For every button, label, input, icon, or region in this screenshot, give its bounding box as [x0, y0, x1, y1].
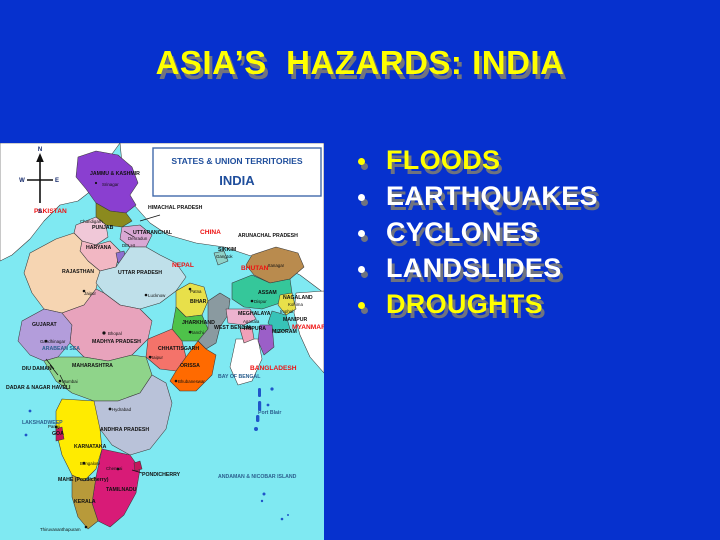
state-label: ORISSA: [180, 363, 200, 369]
capital-label: Srinagar: [102, 182, 119, 187]
compass-south-label: S: [38, 209, 42, 215]
capital-label: Hydrabad: [112, 407, 132, 412]
india-states-map: .st{stroke:#3a3a3a;stroke-width:0.55;str…: [0, 143, 324, 540]
state-label: GUJARAT: [32, 322, 58, 328]
state-label: PONDICHERRY: [142, 472, 181, 478]
state-label: CHHATTISGARH: [158, 346, 199, 352]
bullet-dot-icon: [358, 230, 365, 237]
bullet-dot-icon: [358, 266, 365, 273]
capital-label: Bangalore: [80, 461, 101, 466]
bullet-dot-icon: [358, 302, 365, 309]
list-item-earthquakes: EARTHQUAKES: [352, 182, 712, 211]
capital-label: Jaipur: [84, 291, 96, 296]
page-title: ASIA’S HAZARDS: INDIA: [0, 44, 720, 82]
map-title-line1: STATES & UNION TERRITORIES: [171, 156, 303, 166]
state-label: MADHYA PRADESH: [92, 339, 141, 345]
state-label: JHARKHAND: [182, 320, 215, 326]
capital-label: Raipur: [150, 355, 163, 360]
state-label: ANDHRA PRADESH: [100, 427, 149, 433]
water-label: BAY OF BENGAL: [218, 374, 261, 380]
state-label: DADAR & NAGAR HAVELI: [6, 385, 71, 391]
water-label: ANDAMAN & NICOBAR ISLAND: [218, 474, 297, 480]
compass-north-label: N: [38, 147, 42, 153]
hazard-list: FLOODS EARTHQUAKES CYCLONES LANDSLIDES D…: [352, 146, 712, 325]
state-label: RAJASTHAN: [62, 269, 94, 275]
capital-label: Gandhinagar: [40, 339, 66, 344]
state-label: HARYANA: [86, 245, 112, 251]
state-label: ARUNACHAL PRADESH: [238, 233, 298, 239]
state-label: MAHARASHTRA: [72, 363, 113, 369]
state-label: WEST BENGAL: [214, 325, 253, 331]
capital-label: Imphal: [280, 309, 293, 314]
capital-label: Ranchi: [190, 330, 204, 335]
capital-label: Patna: [190, 289, 202, 294]
map-title-box: STATES & UNION TERRITORIES INDIA: [153, 148, 321, 196]
capital-label: Gangtok: [216, 254, 233, 259]
water-label: ARABEAN SEA: [42, 346, 80, 352]
bullet-dot-icon: [358, 158, 365, 165]
capital-label: Dispur: [254, 299, 267, 304]
neighbour-label: CHINA: [200, 229, 221, 236]
neighbour-label: NEPAL: [172, 262, 194, 269]
capital-label: DELHI: [122, 243, 135, 248]
state-label: JAMMU & KASHMIR: [90, 171, 140, 177]
list-item-droughts: DROUGHTS: [352, 290, 712, 319]
state-label: MAHE (Pondicherry): [58, 477, 109, 483]
neighbour-label: BHUTAN: [241, 265, 269, 272]
capital-label: Thiruvananthapuram: [40, 527, 81, 532]
capital-label: Chennai: [106, 466, 122, 471]
capital-label: Bhubaneswar: [178, 379, 205, 384]
state-label: GOA: [52, 431, 64, 437]
state-label: UTTAR PRADESH: [118, 270, 162, 276]
neighbour-label: BANGLADESH: [250, 365, 297, 372]
water-label: LAKSHADWEEP: [22, 420, 63, 426]
hazard-label: FLOODS: [386, 145, 500, 175]
state-label: ASSAM: [258, 290, 277, 296]
state-label: TAMILNADU: [106, 487, 137, 493]
capital-label: Lucknow: [148, 293, 166, 298]
hazard-label: CYCLONES: [386, 217, 538, 247]
list-item-floods: FLOODS: [352, 146, 712, 175]
state-label: MANIPUR: [283, 317, 307, 323]
map-title-line2: INDIA: [219, 173, 255, 188]
state-label: BIHAR: [190, 299, 207, 305]
bullet-dot-icon: [358, 194, 365, 201]
capital-label: Itanagar: [268, 263, 285, 268]
hazard-label: LANDSLIDES: [386, 253, 562, 283]
capital-label: Bhopal: [108, 331, 122, 336]
state-label: HIMACHAL PRADESH: [148, 205, 203, 211]
state-label: SIKKIM: [218, 247, 236, 253]
compass-west-label: W: [19, 178, 25, 184]
capital-label: Dehradun: [128, 236, 148, 241]
capital-label: Agartala: [243, 319, 260, 324]
list-item-cyclones: CYCLONES: [352, 218, 712, 247]
capital-label: Kohima: [288, 302, 303, 307]
capital-label: Chandigarh: [80, 219, 103, 224]
state-label: MEGHALAYA: [238, 311, 271, 317]
state-label: DIU DAMAN: [22, 366, 52, 372]
state-label: KARNATAKA: [74, 444, 107, 450]
compass-east-label: E: [55, 178, 59, 184]
water-label: Port Blair: [258, 410, 281, 416]
hazard-label: EARTHQUAKES: [386, 181, 598, 211]
state-label: KERALA: [74, 499, 96, 505]
state-label: PUNJAB: [92, 225, 114, 231]
neighbour-label: MYANMAR: [292, 324, 324, 331]
list-item-landslides: LANDSLIDES: [352, 254, 712, 283]
hazard-label: DROUGHTS: [386, 289, 543, 319]
state-label: NAGALAND: [283, 295, 313, 301]
